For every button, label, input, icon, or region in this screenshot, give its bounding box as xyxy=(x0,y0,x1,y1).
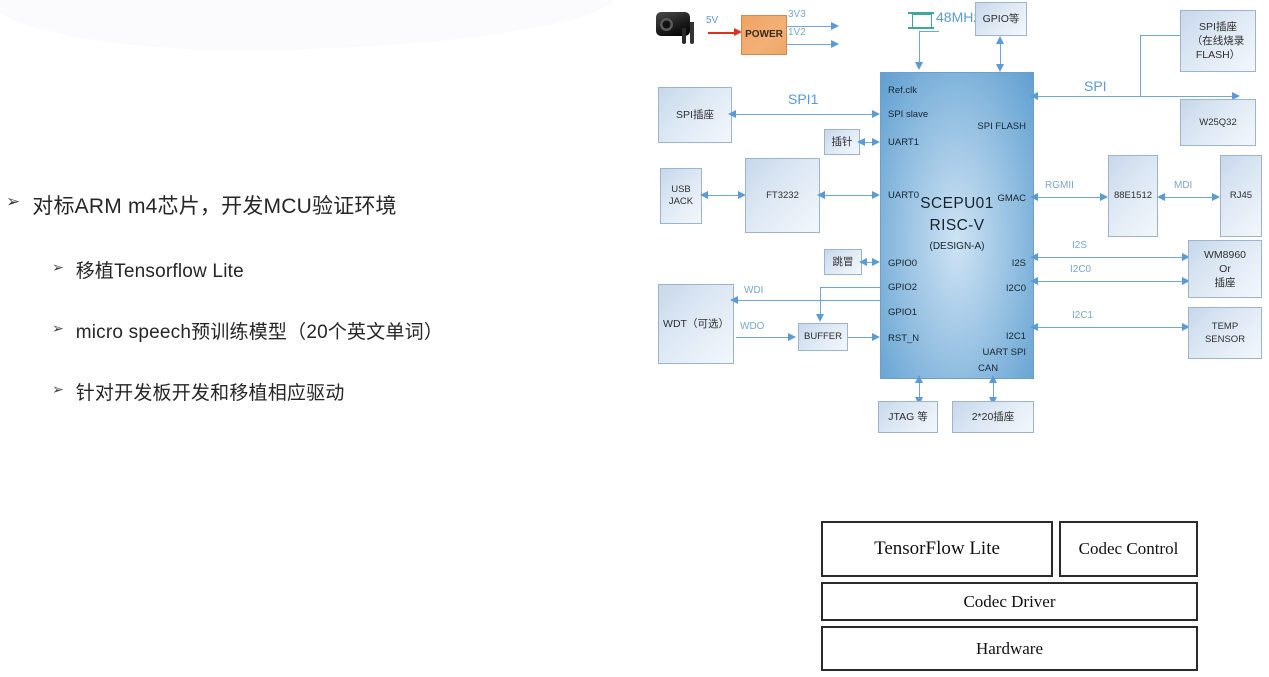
block-spi-socket-flash[interactable]: SPI插座 （在线烧录 FLASH） xyxy=(1180,10,1256,72)
chip-pin-gpio0: GPIO0 xyxy=(888,258,917,269)
wire-uart0-arrow-right xyxy=(872,191,880,199)
wire-wdo-arrowhead xyxy=(788,333,796,341)
wire-gpio0-arrow-left xyxy=(859,258,867,266)
net-label-48mhz: 48MHz xyxy=(936,9,980,25)
stack-codec-driver[interactable]: Codec Driver xyxy=(821,582,1198,621)
wire-i2c1 xyxy=(1038,327,1186,328)
wire-gpio2-v xyxy=(820,287,821,316)
net-label-3v3: 3V3 xyxy=(788,9,806,20)
stack-hardware[interactable]: Hardware xyxy=(821,626,1198,671)
chip-pin-i2s: I2S xyxy=(1012,258,1026,269)
decorative-wave xyxy=(0,0,620,50)
bullet-text: 针对开发板开发和移植相应驱动 xyxy=(76,378,345,405)
bullet-list: ➢ 对标ARM m4芯片，开发MCU验证环境 ➢ 移植Tensorflow Li… xyxy=(6,190,606,439)
crystal-oscillator-icon xyxy=(908,9,934,31)
block-ft3232[interactable]: FT3232 xyxy=(745,158,820,233)
wire-mdi-arrow-right xyxy=(1212,193,1220,201)
wire-1v2-arrowhead xyxy=(831,40,839,48)
chip-pin-rstn: RST_N xyxy=(888,333,919,344)
chip-pin-can: CAN xyxy=(978,363,998,374)
wire-gpio-etc-arrow-up xyxy=(996,36,1004,44)
bullet-text: micro speech预训练模型（20个英文单词） xyxy=(76,317,443,344)
net-label-i2c0: I2C0 xyxy=(1070,264,1091,275)
wire-i2c1-arrow-left xyxy=(1030,323,1038,331)
wire-refclk xyxy=(919,31,920,64)
power-input-wire xyxy=(708,32,736,34)
bullet-arrow-icon: ➢ xyxy=(52,256,64,275)
bullet-arrow-icon: ➢ xyxy=(6,190,20,211)
block-scepu01-chip[interactable]: SCEPU01 RISC-V (DESIGN-A) Ref.clk SPI sl… xyxy=(880,72,1034,379)
wire-mdi xyxy=(1164,197,1216,198)
dc-power-jack-icon xyxy=(656,10,704,42)
block-jtag[interactable]: JTAG 等 xyxy=(878,401,938,433)
wire-uart0 xyxy=(824,195,876,196)
chip-name-line3: (DESIGN-A) xyxy=(881,241,1033,252)
wire-rstn-arrowhead xyxy=(872,333,880,341)
bullet-arrow-icon: ➢ xyxy=(52,317,64,336)
net-label-1v2: 1V2 xyxy=(788,27,806,38)
wire-rgmii-arrow-right xyxy=(1100,193,1108,201)
block-pin-header[interactable]: 插针 xyxy=(824,129,860,155)
block-gpio-etc[interactable]: GPIO等 xyxy=(975,2,1027,36)
chip-pin-spi-flash: SPI FLASH xyxy=(977,121,1026,132)
chip-pin-spi-slave: SPI slave xyxy=(888,109,928,120)
wire-i2s-arrow-left xyxy=(1030,253,1038,261)
wire-spi-arrow-left xyxy=(1030,92,1038,100)
wire-gpio2-arrowhead xyxy=(816,314,824,322)
net-label-wdi: WDI xyxy=(744,285,763,296)
block-jumper[interactable]: 跳冒 xyxy=(824,249,862,275)
chip-pin-uart0: UART0 xyxy=(888,190,919,201)
net-label-spi1: SPI1 xyxy=(788,91,818,107)
chip-name-line2: RISC-V xyxy=(881,217,1033,235)
block-88e1512[interactable]: 88E1512 xyxy=(1108,155,1158,237)
net-label-i2c1: I2C1 xyxy=(1072,310,1093,321)
wire-spi1 xyxy=(736,114,876,115)
chip-pin-gmac: GMAC xyxy=(998,193,1027,204)
wire-rgmii-arrow-left xyxy=(1030,193,1038,201)
list-item: ➢ 对标ARM m4芯片，开发MCU验证环境 xyxy=(6,190,606,220)
chip-pin-i2c1: I2C1 xyxy=(1006,331,1026,342)
software-stack-diagram: TensorFlow Lite Codec Control Codec Driv… xyxy=(821,521,1198,676)
net-label-rgmii: RGMII xyxy=(1045,180,1074,191)
bullet-text: 对标ARM m4芯片，开发MCU验证环境 xyxy=(32,190,397,220)
list-item: ➢ micro speech预训练模型（20个英文单词） xyxy=(52,317,606,344)
wire-usb-arrow-left xyxy=(700,191,708,199)
block-spi-socket[interactable]: SPI插座 xyxy=(658,87,732,143)
wire-spi1-arrow-right xyxy=(872,110,880,118)
wire-wdi xyxy=(738,300,880,301)
chip-pin-uart1: UART1 xyxy=(888,137,919,148)
wire-2x20-arrow-up xyxy=(989,375,997,383)
wire-jtag-arrow-up xyxy=(915,375,923,383)
block-2x20-header[interactable]: 2*20插座 xyxy=(952,401,1034,433)
wire-usb-ft xyxy=(706,195,742,196)
wire-wdo xyxy=(736,337,790,338)
block-usb-jack[interactable]: USB JACK xyxy=(660,168,702,224)
wire-i2c0-arrow-left xyxy=(1030,277,1038,285)
stack-row-top: TensorFlow Lite Codec Control xyxy=(821,521,1198,577)
chip-pin-refclk: Ref.clk xyxy=(888,85,917,96)
wire-gpio2-h xyxy=(820,287,880,288)
chip-pin-uart-spi: UART SPI xyxy=(983,347,1026,358)
wire-spi-branch-v xyxy=(1140,35,1141,97)
wire-rgmii xyxy=(1038,197,1104,198)
block-temp-sensor[interactable]: TEMP SENSOR xyxy=(1188,307,1262,359)
block-diagram: 5V POWER 3V3 1V2 48MHz GPIO等 SPI插座 SPI1 xyxy=(640,0,1269,450)
net-label-i2s: I2S xyxy=(1072,240,1087,251)
bullet-text: 移植Tensorflow Lite xyxy=(76,256,244,283)
stack-codec-control[interactable]: Codec Control xyxy=(1059,521,1198,577)
wire-1v2 xyxy=(787,44,833,45)
wire-spi-bus xyxy=(1038,96,1234,97)
wire-i2c0 xyxy=(1038,281,1186,282)
wire-gpio0-arrow-right xyxy=(872,258,880,266)
chip-pin-gpio1: GPIO1 xyxy=(888,307,917,318)
net-label-spi: SPI xyxy=(1084,78,1107,94)
block-wdt[interactable]: WDT（可选） xyxy=(658,284,734,364)
wire-uart1-arrow-right xyxy=(872,138,880,146)
net-label-5v: 5V xyxy=(706,15,718,26)
wire-uart0-arrow-left xyxy=(817,191,825,199)
net-label-wdo: WDO xyxy=(740,321,764,332)
list-item: ➢ 移植Tensorflow Lite xyxy=(52,256,606,283)
block-wm8960-codec[interactable]: WM8960 Or 插座 xyxy=(1188,240,1262,298)
wire-refclk-h xyxy=(919,31,939,32)
wire-i2s xyxy=(1038,257,1186,258)
block-buffer[interactable]: BUFFER xyxy=(798,323,848,351)
stack-row-bottom: Hardware xyxy=(821,626,1198,671)
wire-refclk-arrowhead xyxy=(915,62,923,70)
wire-3v3-arrowhead xyxy=(831,22,839,30)
net-label-mdi: MDI xyxy=(1174,180,1192,191)
slide-canvas: ➢ 对标ARM m4芯片，开发MCU验证环境 ➢ 移植Tensorflow Li… xyxy=(0,0,1269,677)
bullet-arrow-icon: ➢ xyxy=(52,378,64,397)
list-item: ➢ 针对开发板开发和移植相应驱动 xyxy=(52,378,606,405)
wire-mdi-arrow-left xyxy=(1157,193,1165,201)
block-rj45[interactable]: RJ45 xyxy=(1220,155,1262,237)
block-w25q32[interactable]: W25Q32 xyxy=(1180,99,1256,146)
wire-wdi-arrowhead xyxy=(730,296,738,304)
wire-gpio-etc-arrow-down xyxy=(996,64,1004,72)
chip-pin-gpio2: GPIO2 xyxy=(888,282,917,293)
block-power[interactable]: POWER xyxy=(741,15,787,55)
wire-uart1-arrow-left xyxy=(857,138,865,146)
stack-tensorflow-lite[interactable]: TensorFlow Lite xyxy=(821,521,1053,577)
chip-pin-i2c0: I2C0 xyxy=(1006,283,1026,294)
stack-row-middle: Codec Driver xyxy=(821,582,1198,621)
wire-spi1-arrow-left xyxy=(728,110,736,118)
